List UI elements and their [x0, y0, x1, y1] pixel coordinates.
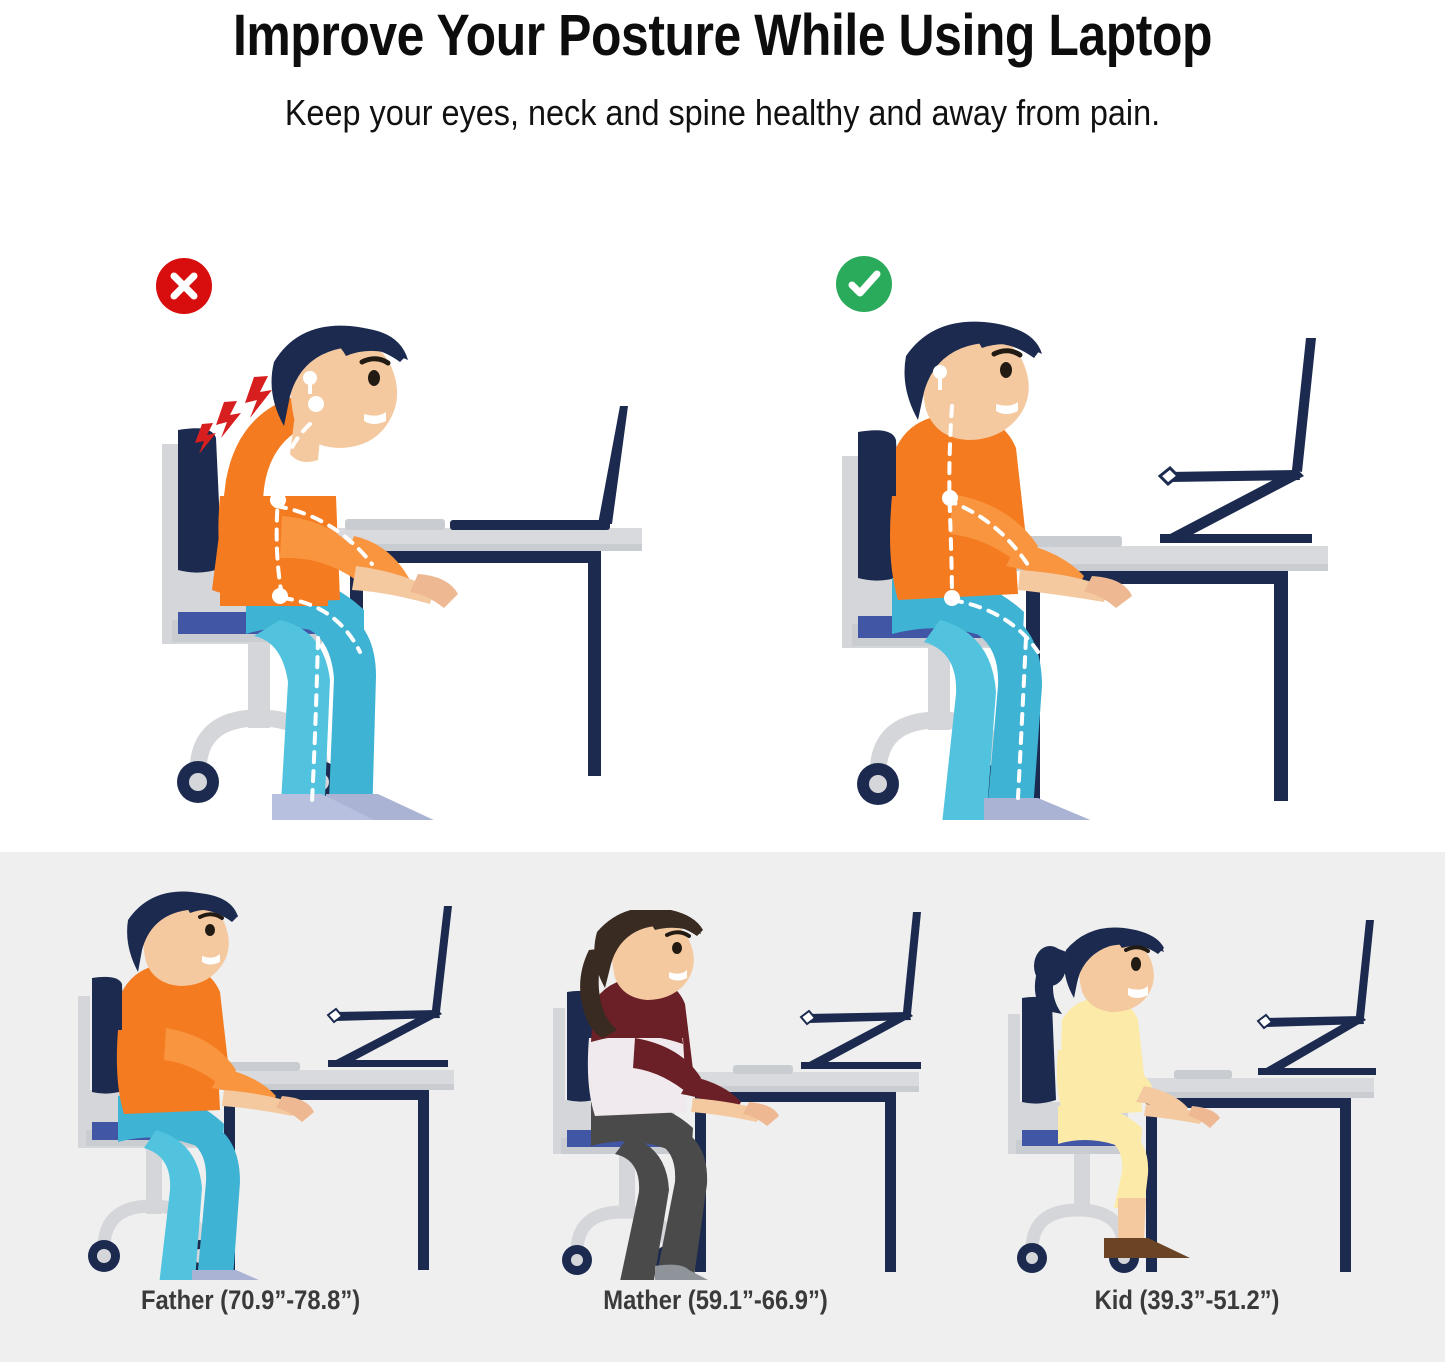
laptop-on-stand: [328, 906, 452, 1067]
keyboard: [733, 1065, 793, 1074]
family-figure-kid: [1000, 920, 1390, 1280]
infographic-page: Improve Your Posture While Using Laptop …: [0, 0, 1445, 1362]
laptop-on-stand: [1160, 338, 1316, 543]
keyboard: [1174, 1070, 1232, 1079]
cross-icon: [156, 258, 212, 314]
check-badge: [836, 256, 892, 312]
bad-posture-illustration: [150, 320, 670, 820]
page-title: Improve Your Posture While Using Laptop: [101, 2, 1344, 69]
keyboard: [345, 519, 445, 530]
check-icon: [836, 256, 892, 312]
family-figure-mather: [545, 910, 935, 1280]
family-figure-father: [70, 890, 470, 1280]
laptop-on-stand: [801, 912, 921, 1069]
header: Improve Your Posture While Using Laptop …: [0, 0, 1445, 160]
cross-badge: [156, 258, 212, 314]
good-posture-illustration: [830, 320, 1350, 820]
family-label-kid: Kid (39.3”-51.2”): [1095, 1285, 1280, 1316]
family-label-father: Father (70.9”-78.8”): [141, 1285, 360, 1316]
laptop-on-stand: [1258, 920, 1376, 1075]
laptop-flat: [450, 406, 628, 530]
page-subtitle: Keep your eyes, neck and spine healthy a…: [72, 92, 1373, 134]
family-label-mather: Mather (59.1”-66.9”): [603, 1285, 827, 1316]
